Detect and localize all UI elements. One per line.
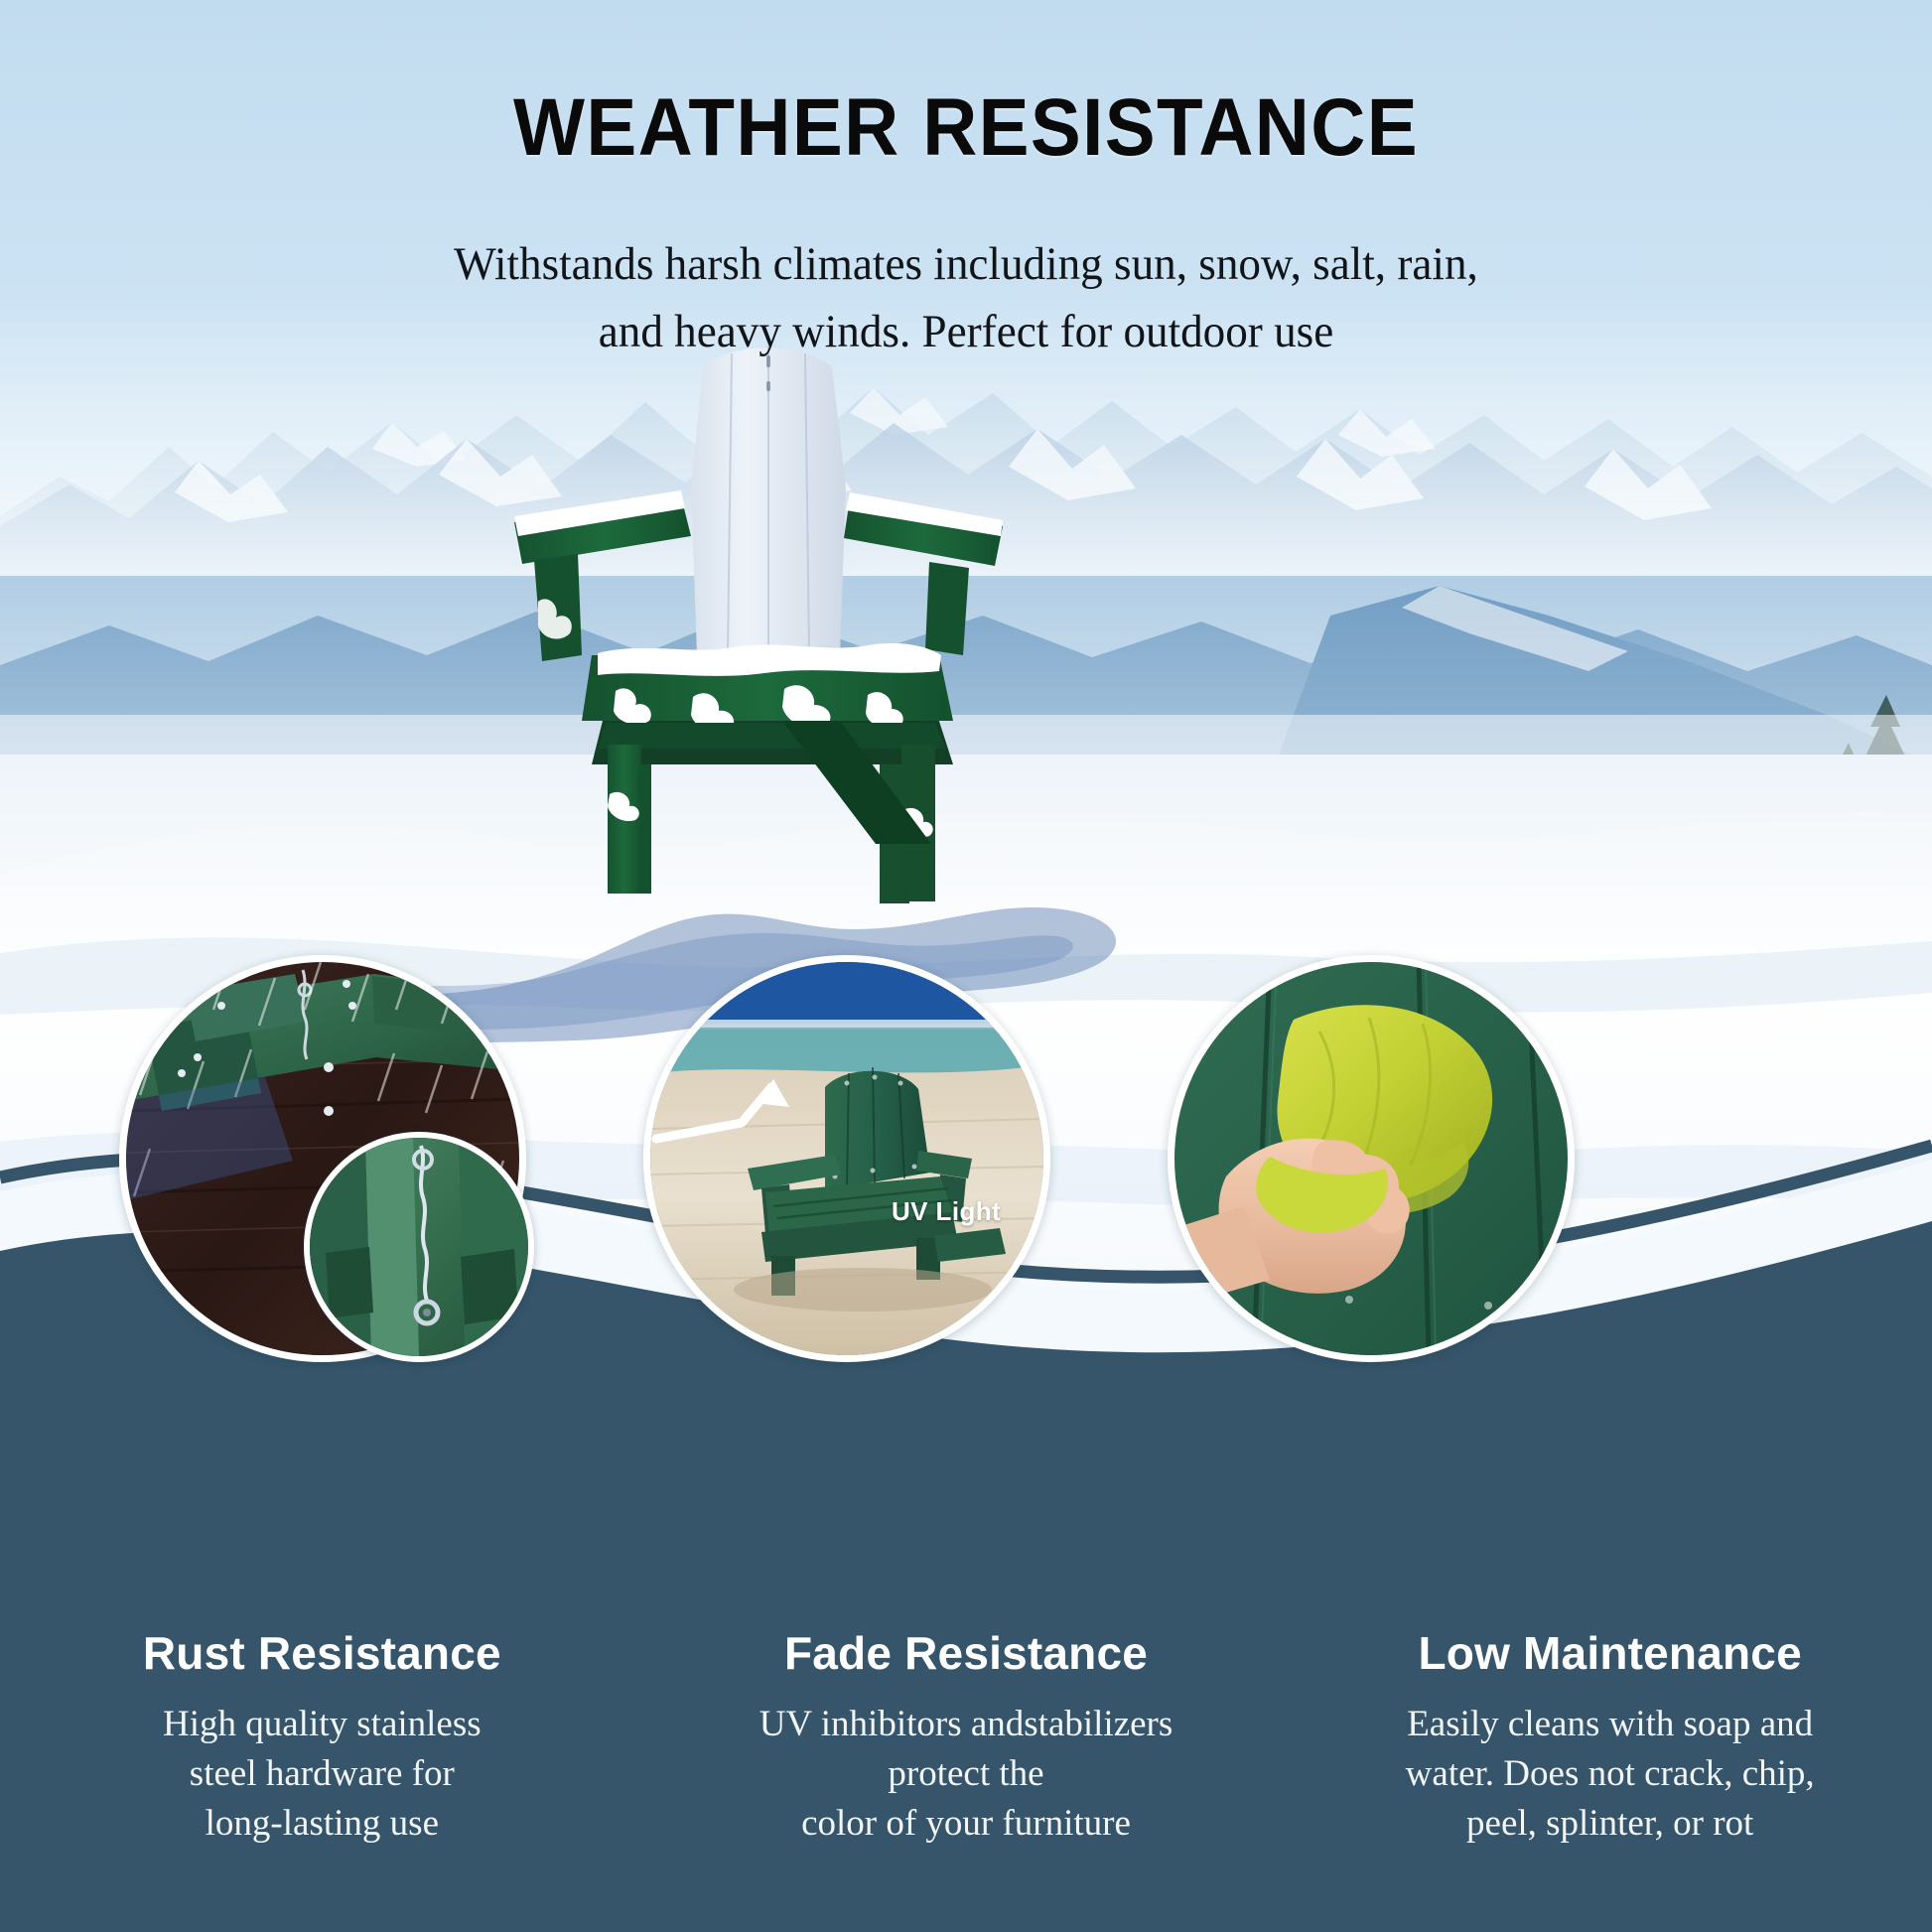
uv-light-label: UV Light <box>892 1196 1001 1227</box>
adirondack-chair-in-snow <box>486 328 1042 903</box>
feature-desc-line-1: UV inhibitors andstabilizers <box>666 1700 1267 1749</box>
infographic-canvas: WEATHER RESISTANCE Withstands harsh clim… <box>0 0 1932 1932</box>
page-subtitle: Withstands harsh climates including sun,… <box>39 230 1893 365</box>
feature-desc-line-1: Easily cleans with soap and <box>1310 1700 1910 1749</box>
feature-description-fade-resistance: UV inhibitors andstabilizers protect the… <box>666 1700 1267 1849</box>
page-title: WEATHER RESISTANCE <box>68 81 1864 175</box>
feature-title-low-maintenance: Low Maintenance <box>1310 1626 1910 1680</box>
feature-desc-line-2: water. Does not crack, chip, <box>1310 1749 1910 1799</box>
feature-description-low-maintenance: Easily cleans with soap and water. Does … <box>1310 1700 1910 1849</box>
feature-desc-line-3: color of your furniture <box>666 1799 1267 1849</box>
feature-image-low-maintenance <box>1168 955 1575 1362</box>
feature-desc-line-3: peel, splinter, or rot <box>1310 1799 1910 1849</box>
feature-title-fade-resistance: Fade Resistance <box>666 1626 1267 1680</box>
feature-image-fade-resistance <box>643 955 1050 1362</box>
feature-title-rust-resistance: Rust Resistance <box>22 1626 622 1680</box>
feature-desc-line-2: steel hardware for <box>22 1749 622 1799</box>
page-subtitle-line-2: and heavy winds. Perfect for outdoor use <box>39 298 1893 365</box>
feature-description-rust-resistance: High quality stainless steel hardware fo… <box>22 1700 622 1849</box>
feature-column-low-maintenance: Low Maintenance Easily cleans with soap … <box>1288 1626 1932 1904</box>
page-subtitle-line-1: Withstands harsh climates including sun,… <box>39 230 1893 298</box>
feature-image-rust-resistance-detail <box>304 1132 534 1362</box>
feature-desc-line-3: long-lasting use <box>22 1799 622 1849</box>
feature-column-fade-resistance: Fade Resistance UV inhibitors andstabili… <box>644 1626 1289 1904</box>
feature-desc-line-1: High quality stainless <box>22 1700 622 1749</box>
feature-desc-line-2: protect the <box>666 1749 1267 1799</box>
feature-text-row: Rust Resistance High quality stainless s… <box>0 1626 1932 1904</box>
feature-column-rust-resistance: Rust Resistance High quality stainless s… <box>0 1626 644 1904</box>
